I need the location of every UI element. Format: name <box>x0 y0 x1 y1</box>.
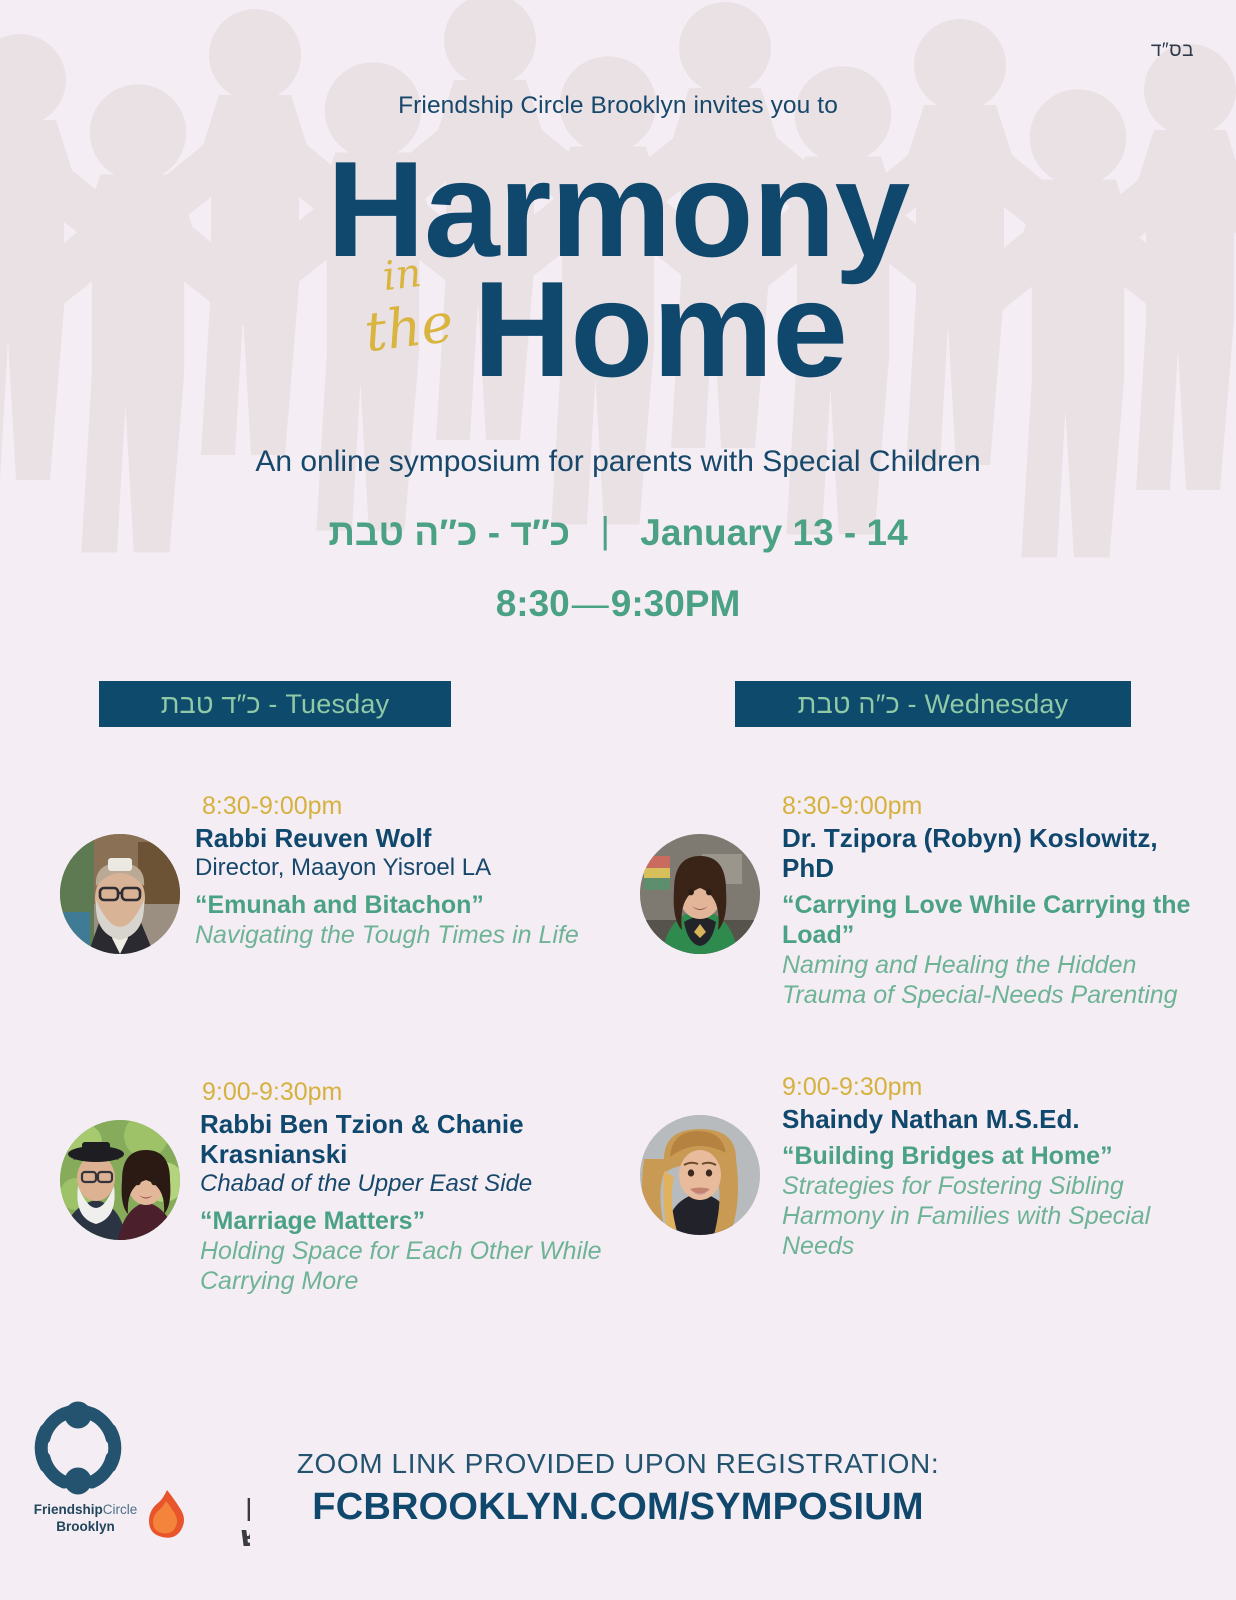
invite-line: Friendship Circle Brooklyn invites you t… <box>0 92 1236 120</box>
date-english: January 13 - 14 <box>640 512 907 553</box>
session-time: 9:00-9:30pm <box>782 1073 1200 1102</box>
speaker-details: Rabbi Ben Tzion & Chanie Krasnianski Cha… <box>200 1109 630 1296</box>
day-header-tuesday-label: Tuesday - כ″ד טבת <box>161 689 390 720</box>
speaker-name: Dr. Tzipora (Robyn) Koslowitz, PhD <box>782 823 1200 883</box>
session-time: 9:00-9:30pm <box>202 1078 630 1107</box>
zoom-link-note: ZOOM LINK PROVIDED UPON REGISTRATION: <box>0 1448 1236 1480</box>
date-separator: | <box>600 510 610 552</box>
title-line-harmony: Harmony <box>0 150 1236 268</box>
flyer-page: בס″ד Friendship Circle Brooklyn invites … <box>0 0 1236 1600</box>
speaker-topic: “Carrying Love While Carrying the Load” <box>782 890 1200 950</box>
speaker-details: Rabbi Reuven Wolf Director, Maayon Yisro… <box>195 823 630 950</box>
speaker-topic: “Building Bridges at Home” <box>782 1141 1200 1171</box>
avatar-dr-tzipora-koslowitz <box>640 834 760 954</box>
speaker-topic: “Emunah and Bitachon” <box>195 890 630 920</box>
time-end: 9:30PM <box>611 583 741 624</box>
speaker-name: Rabbi Ben Tzion & Chanie Krasnianski <box>200 1109 630 1169</box>
time-dash: — <box>570 583 611 624</box>
speaker-topic-subtitle: Holding Space for Each Other While Carry… <box>200 1236 630 1296</box>
speaker-topic-subtitle: Naming and Healing the Hidden Trauma of … <box>782 950 1200 1010</box>
speaker-topic-subtitle: Strategies for Fostering Sibling Harmony… <box>782 1171 1200 1261</box>
speaker-details: Shaindy Nathan M.S.Ed. “Building Bridges… <box>782 1104 1200 1261</box>
speaker-card-shaindy-nathan: 9:00-9:30pm Shaindy Nathan M.S.Ed. “Buil… <box>640 1073 1200 1261</box>
avatar-shaindy-nathan <box>640 1115 760 1235</box>
time-start: 8:30 <box>496 583 570 624</box>
date-row: כ″ד - כ″ה טבת | January 13 - 14 <box>0 512 1236 554</box>
day-header-wednesday-label: Wednesday - כ″ה טבת <box>798 689 1069 720</box>
avatar-rabbi-reuven-wolf <box>60 834 180 954</box>
speaker-name: Rabbi Reuven Wolf <box>195 823 630 853</box>
title-line-home-row: in the Home <box>0 268 1236 398</box>
speaker-name: Shaindy Nathan M.S.Ed. <box>782 1104 1200 1134</box>
speaker-topic-subtitle: Navigating the Tough Times in Life <box>195 920 630 950</box>
time-row: 8:30—9:30PM <box>0 583 1236 625</box>
speaker-card-krasnianski: 9:00-9:30pm <box>60 1078 630 1296</box>
title-block: Harmony in the Home <box>0 150 1236 398</box>
registration-url[interactable]: FCBROOKLYN.COM/SYMPOSIUM <box>0 1486 1236 1529</box>
speaker-org: Director, Maayon Yisroel LA <box>195 853 630 883</box>
speaker-card-rabbi-reuven-wolf: 8:30-9:00pm Rab <box>60 792 630 950</box>
session-time: 8:30-9:00pm <box>202 792 630 821</box>
speaker-topic: “Marriage Matters” <box>200 1206 630 1236</box>
registration-footer: ZOOM LINK PROVIDED UPON REGISTRATION: FC… <box>0 1448 1236 1529</box>
bsd-text: בס″ד <box>1151 40 1194 62</box>
day-header-wednesday: Wednesday - כ″ה טבת <box>735 681 1131 727</box>
speaker-details: Dr. Tzipora (Robyn) Koslowitz, PhD “Carr… <box>782 823 1200 1010</box>
avatar-krasnianski-couple <box>60 1120 180 1240</box>
title-line-home: Home <box>0 268 1236 390</box>
date-hebrew: כ″ד - כ″ה טבת <box>328 512 570 554</box>
speaker-org: Chabad of the Upper East Side <box>200 1169 630 1199</box>
speaker-card-dr-tzipora-koslowitz: 8:30-9:00pm Dr. Tzipora (Robyn <box>640 792 1200 1010</box>
day-header-tuesday: Tuesday - כ″ד טבת <box>99 681 451 727</box>
subtitle: An online symposium for parents with Spe… <box>0 445 1236 479</box>
session-time: 8:30-9:00pm <box>782 792 1200 821</box>
